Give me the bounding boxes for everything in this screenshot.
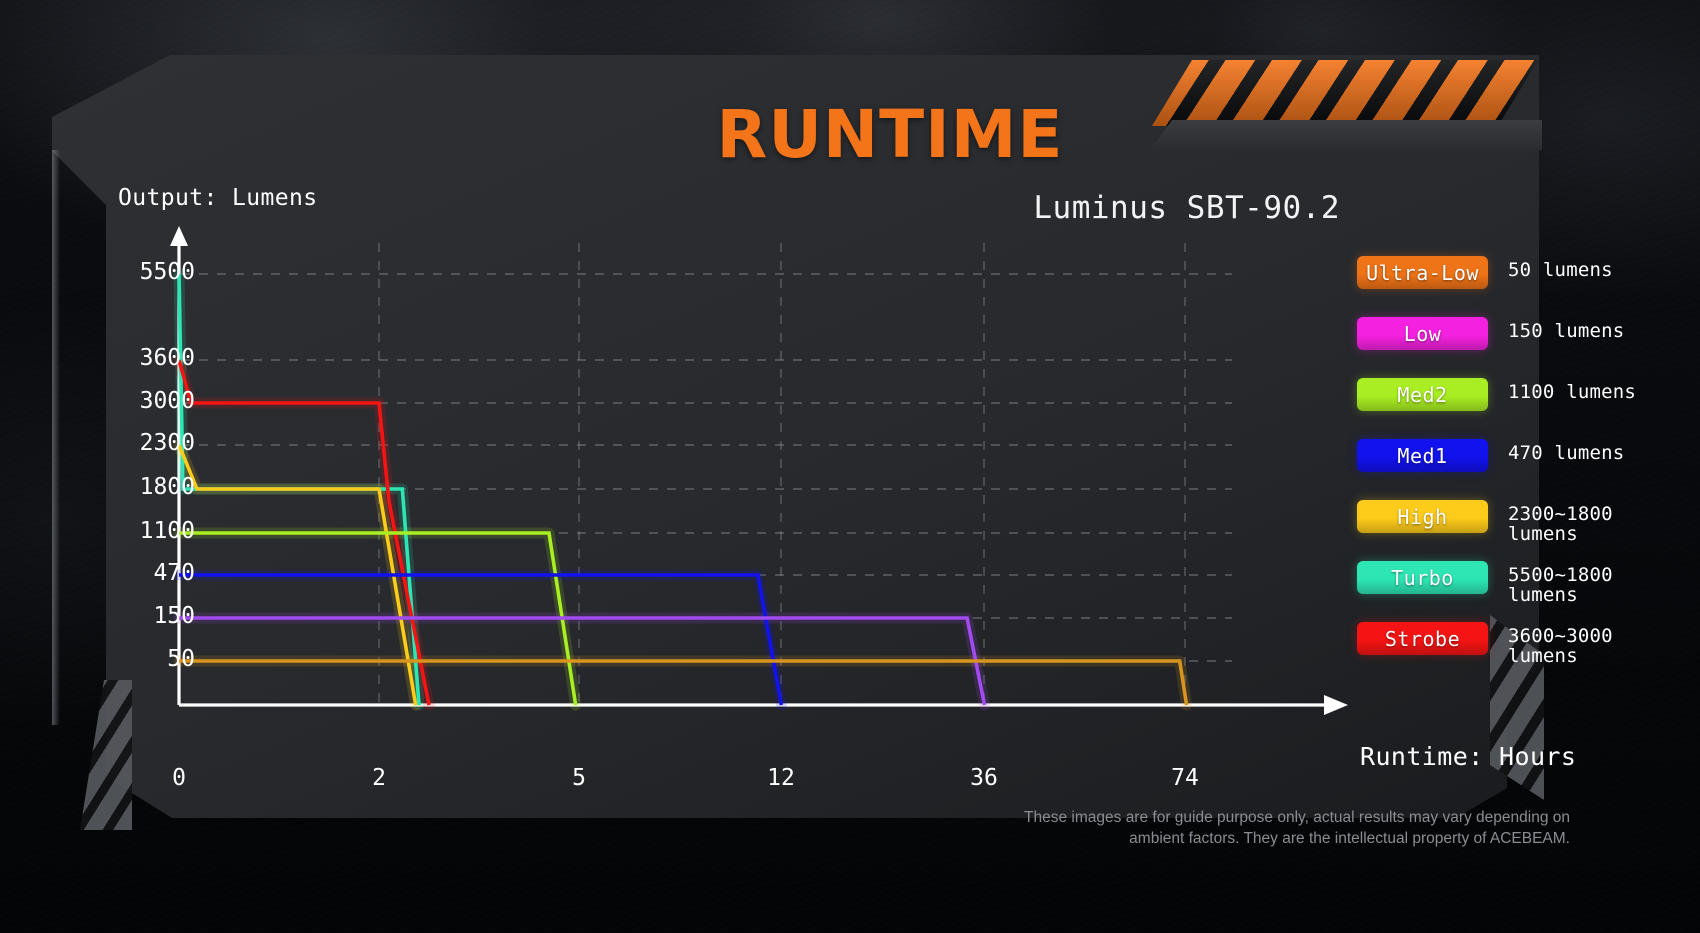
legend-chip-strobe[interactable]: Strobe <box>1357 622 1488 655</box>
series-line-med1 <box>179 575 781 705</box>
x-tick-label: 5 <box>539 765 619 791</box>
x-tick-label: 12 <box>741 765 821 791</box>
legend-chip-med1[interactable]: Med1 <box>1357 439 1488 472</box>
legend-row: Low150 lumens <box>1357 317 1657 378</box>
legend-chip-high[interactable]: High <box>1357 500 1488 533</box>
y-tick-label: 2300 <box>105 430 195 456</box>
legend-row: High2300~1800 lumens <box>1357 500 1657 561</box>
y-tick-label: 1800 <box>105 474 195 500</box>
mode-legend: Ultra-Low50 lumensLow150 lumensMed21100 … <box>1357 256 1657 683</box>
legend-row: Ultra-Low50 lumens <box>1357 256 1657 317</box>
y-tick-label: 150 <box>105 603 195 629</box>
legend-row: Turbo5500~1800 lumens <box>1357 561 1657 622</box>
y-tick-label: 1100 <box>105 518 195 544</box>
legend-value: 470 lumens <box>1508 439 1624 464</box>
y-tick-label: 5500 <box>105 259 195 285</box>
y-axis-tick-labels: 55003600300023001800110047015050 <box>105 0 195 933</box>
y-tick-label: 50 <box>105 646 195 672</box>
chart-gridlines <box>181 243 1232 705</box>
x-tick-label: 0 <box>139 765 219 791</box>
chart-axes <box>170 226 1348 715</box>
legend-value: 5500~1800 lumens <box>1508 561 1657 606</box>
legend-chip-turbo[interactable]: Turbo <box>1357 561 1488 594</box>
legend-value: 3600~3000 lumens <box>1508 622 1657 667</box>
legend-value: 1100 lumens <box>1508 378 1636 403</box>
disclaimer-text: These images are for guide purpose only,… <box>975 808 1570 850</box>
y-tick-label: 470 <box>105 560 195 586</box>
y-tick-label: 3000 <box>105 388 195 414</box>
legend-row: Med21100 lumens <box>1357 378 1657 439</box>
legend-value: 50 lumens <box>1508 256 1613 281</box>
y-tick-label: 3600 <box>105 345 195 371</box>
legend-row: Med1470 lumens <box>1357 439 1657 500</box>
legend-value: 150 lumens <box>1508 317 1624 342</box>
legend-chip-med2[interactable]: Med2 <box>1357 378 1488 411</box>
legend-chip-low[interactable]: Low <box>1357 317 1488 350</box>
x-tick-label: 2 <box>339 765 419 791</box>
legend-chip-ultra-low[interactable]: Ultra-Low <box>1357 256 1488 289</box>
x-tick-label: 36 <box>944 765 1024 791</box>
legend-value: 2300~1800 lumens <box>1508 500 1657 545</box>
series-line-ultra-low <box>179 661 1187 705</box>
x-tick-label: 74 <box>1145 765 1225 791</box>
legend-row: Strobe3600~3000 lumens <box>1357 622 1657 683</box>
